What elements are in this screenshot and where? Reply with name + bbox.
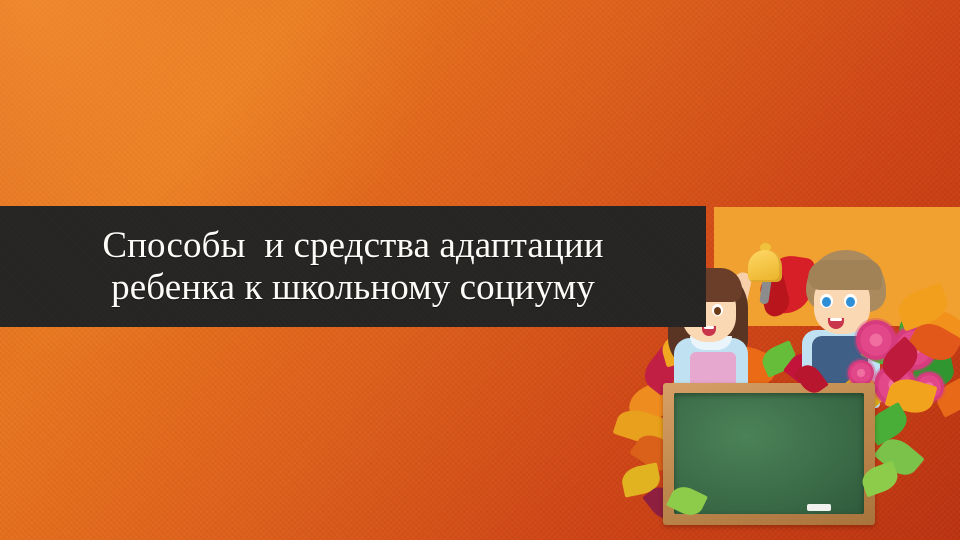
page-title: Способы и средства адаптации ребенка к ш…	[92, 225, 613, 309]
title-slide: Способы и средства адаптации ребенка к ш…	[0, 0, 960, 540]
title-banner: Способы и средства адаптации ребенка к ш…	[0, 206, 706, 327]
